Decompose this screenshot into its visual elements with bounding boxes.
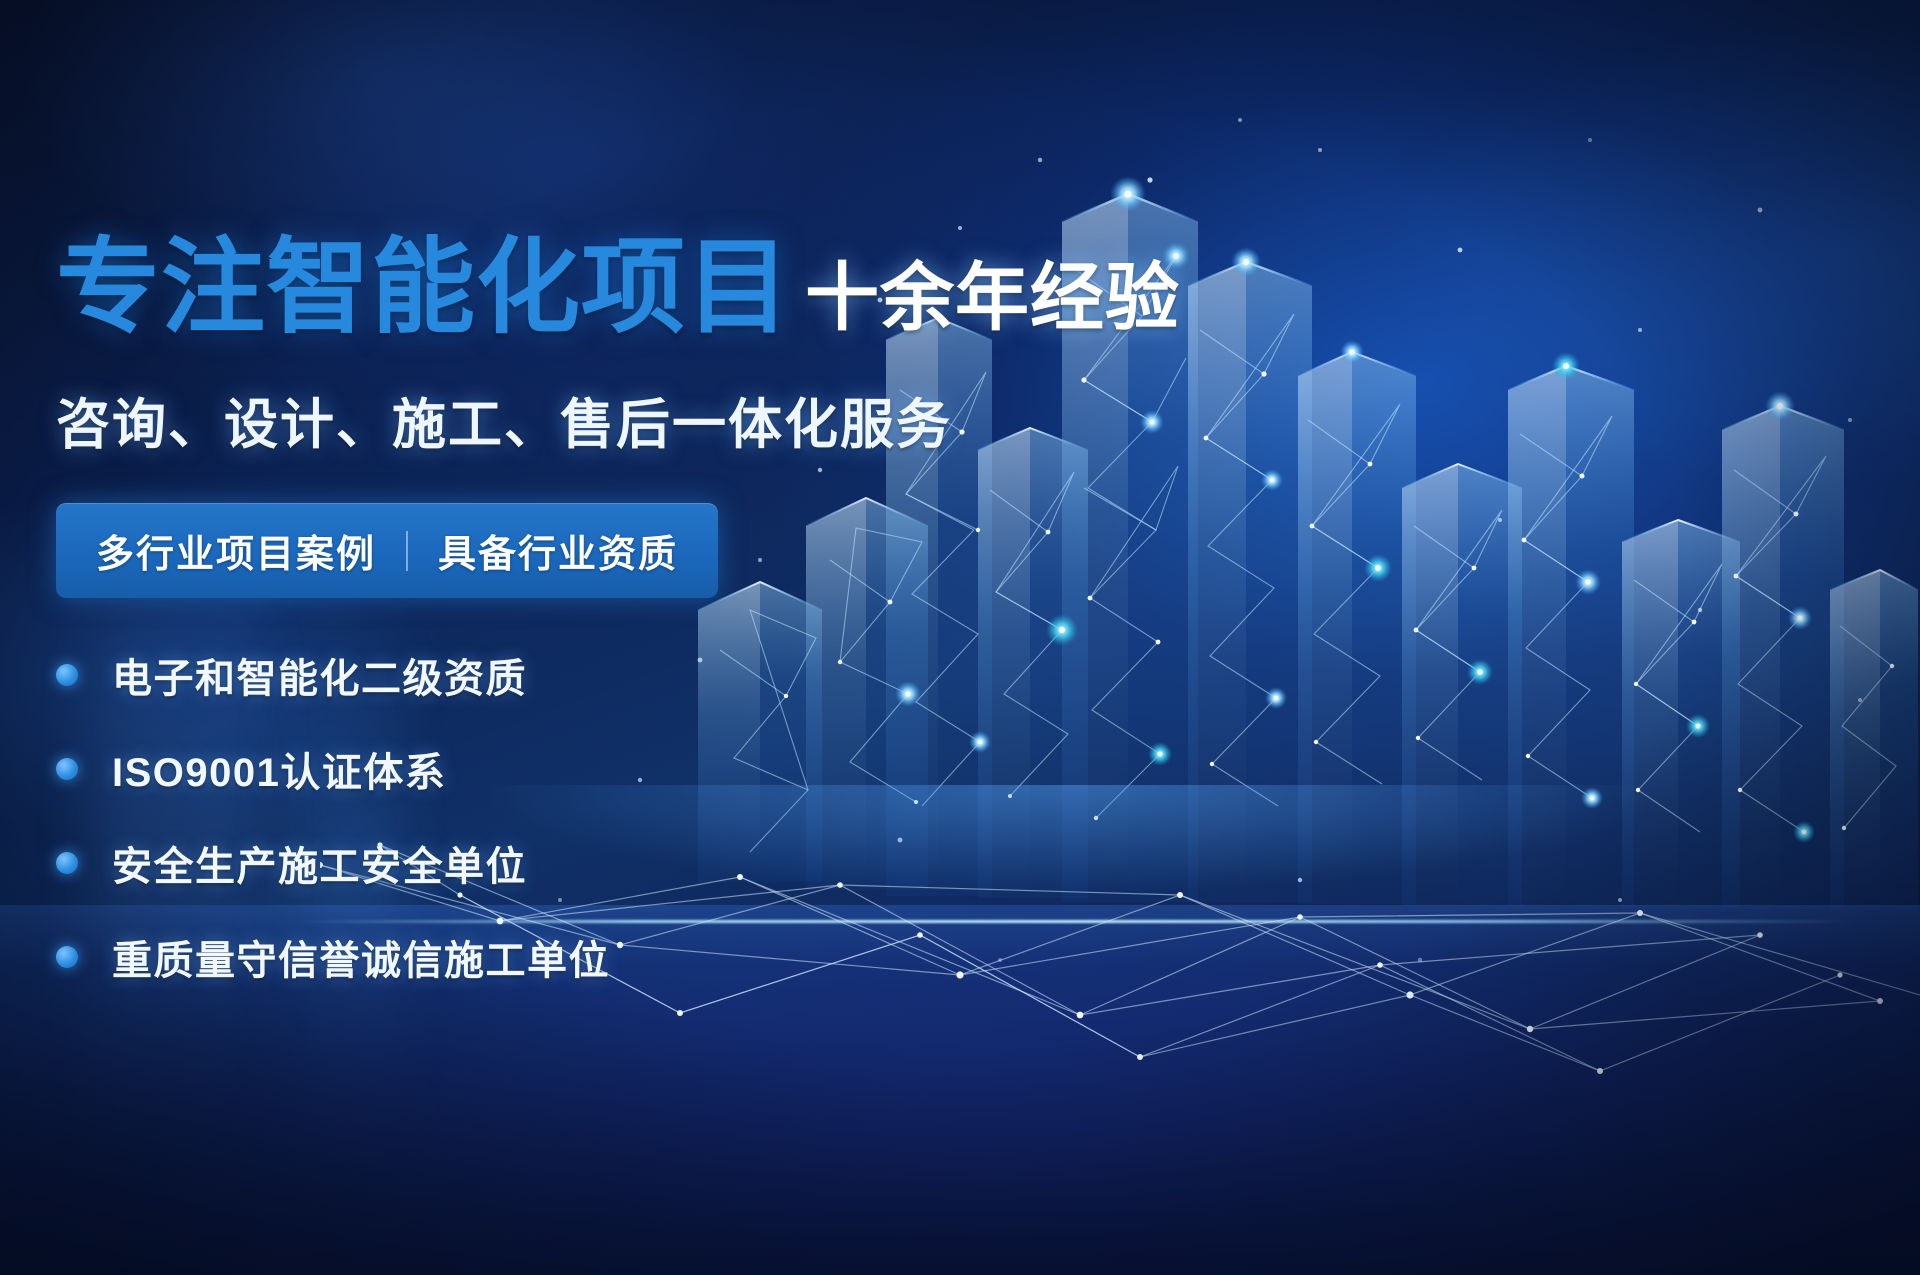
subtitle: 咨询、设计、施工、售后一体化服务 xyxy=(56,380,1116,459)
bullet-dot-icon xyxy=(56,946,78,968)
headline: 专注智能化项目 十余年经验 xyxy=(56,236,1116,340)
hero-banner: 专注智能化项目 十余年经验 咨询、设计、施工、售后一体化服务 多行业项目案例 具… xyxy=(0,0,1920,1275)
list-item: 电子和智能化二级资质 xyxy=(56,646,1116,704)
hero-text-block: 专注智能化项目 十余年经验 咨询、设计、施工、售后一体化服务 多行业项目案例 具… xyxy=(56,236,1116,986)
list-item-label: 电子和智能化二级资质 xyxy=(112,646,527,704)
list-item-label: 重质量守信誉诚信施工单位 xyxy=(112,928,610,986)
headline-suffix-text: 十余年经验 xyxy=(805,261,1180,340)
qualification-list: 电子和智能化二级资质 ISO9001认证体系 安全生产施工安全单位 重质量守信誉… xyxy=(56,646,1116,986)
qualification-badge[interactable]: 多行业项目案例 具备行业资质 xyxy=(56,503,718,598)
list-item-label: ISO9001认证体系 xyxy=(112,740,446,798)
list-item: 重质量守信誉诚信施工单位 xyxy=(56,928,1116,986)
list-item: 安全生产施工安全单位 xyxy=(56,834,1116,892)
list-item-label: 安全生产施工安全单位 xyxy=(112,834,527,892)
badge-left-label: 多行业项目案例 xyxy=(96,523,376,578)
bullet-dot-icon xyxy=(56,758,78,780)
list-item: ISO9001认证体系 xyxy=(56,740,1116,798)
badge-separator xyxy=(406,531,408,571)
bullet-dot-icon xyxy=(56,664,78,686)
bullet-dot-icon xyxy=(56,852,78,874)
headline-main-text: 专注智能化项目 xyxy=(56,236,791,340)
badge-right-label: 具备行业资质 xyxy=(438,523,678,578)
